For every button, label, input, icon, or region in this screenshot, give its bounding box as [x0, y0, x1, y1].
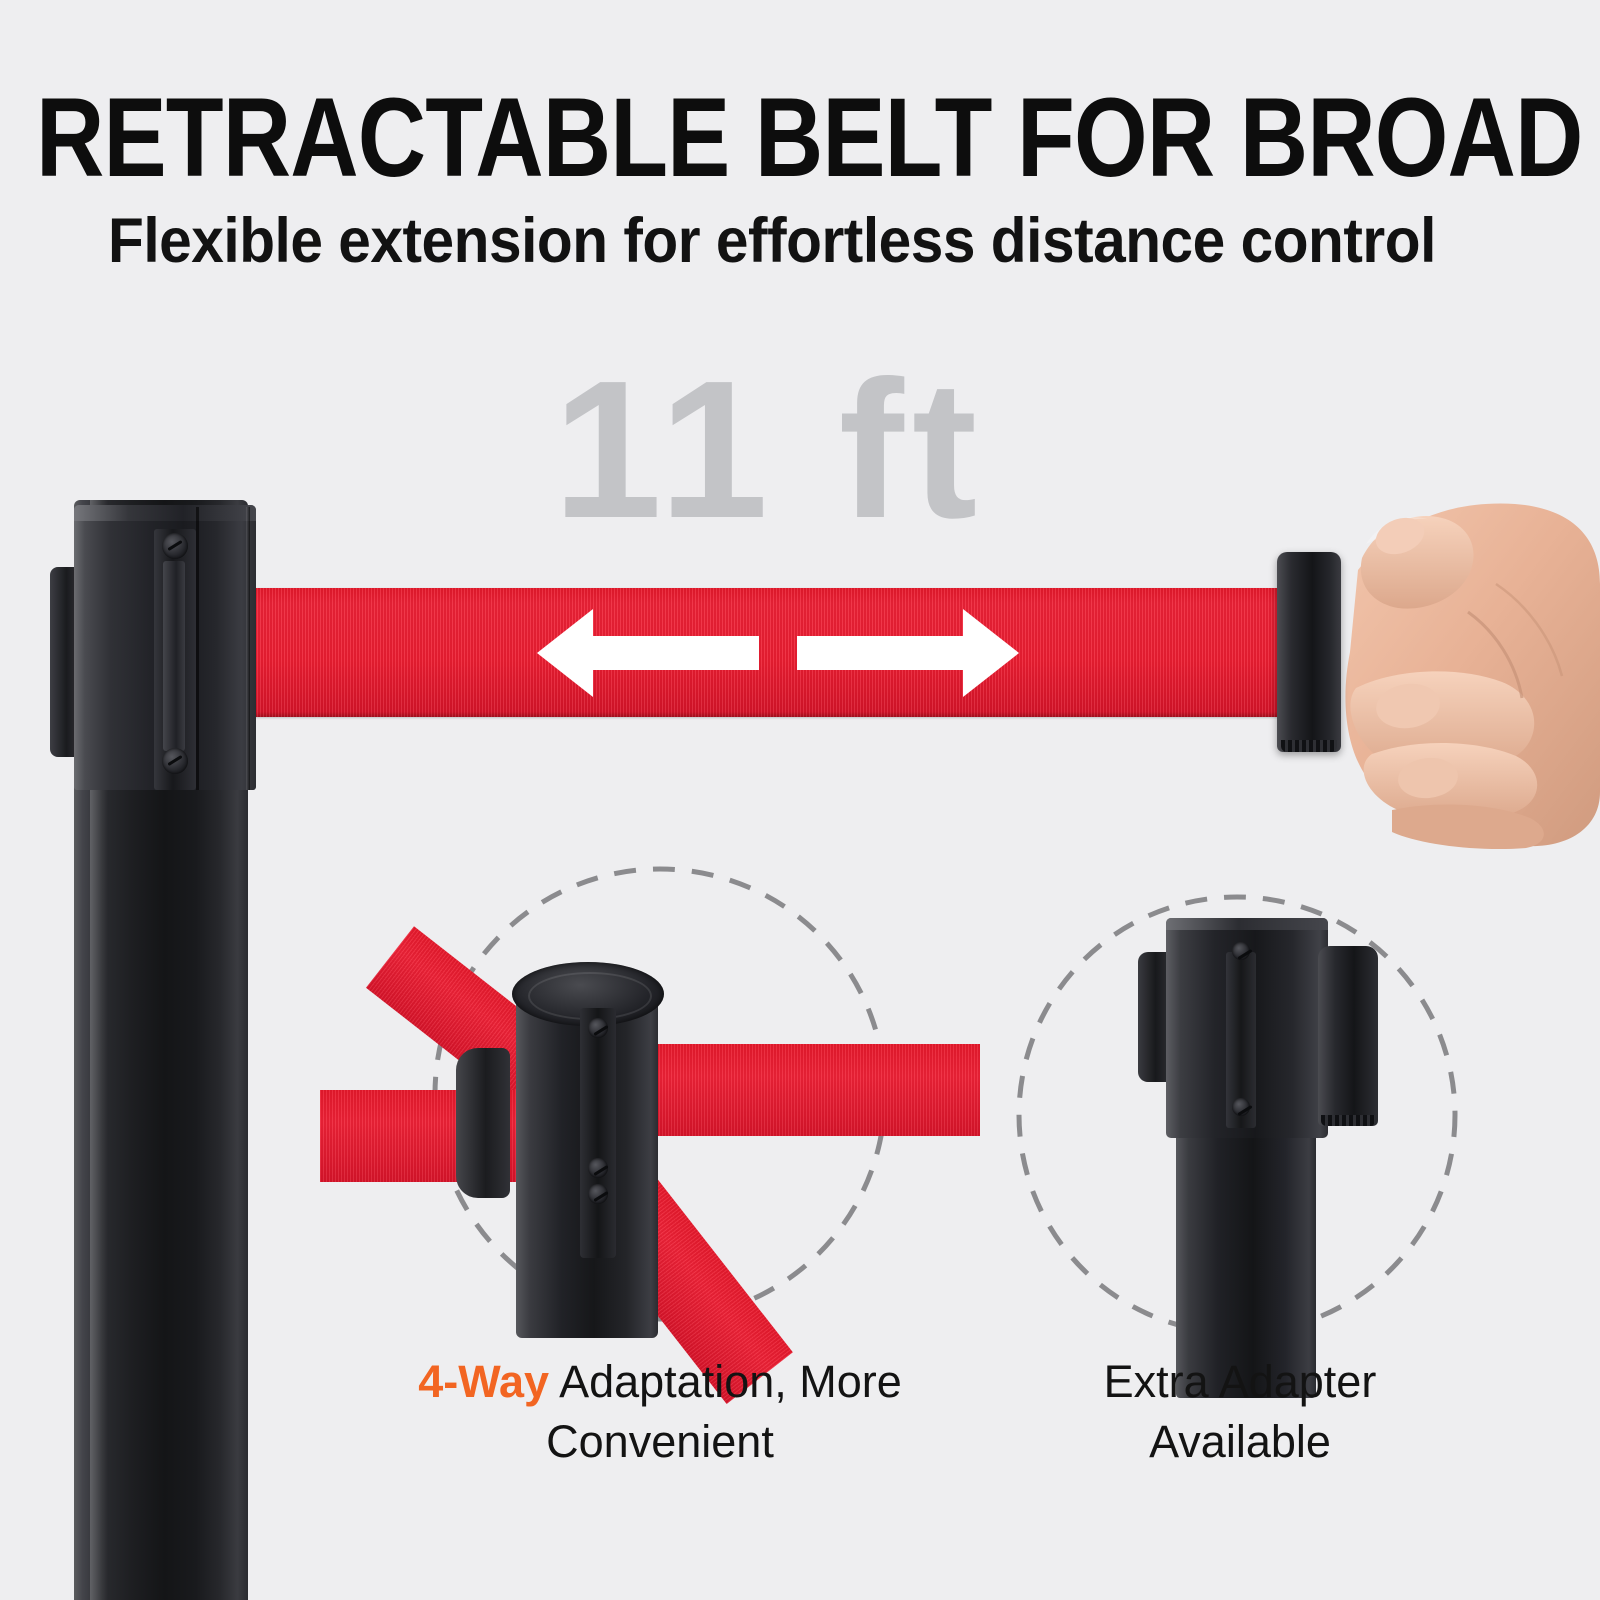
belt-end-clip: [1277, 552, 1341, 752]
screw-icon-top: [162, 533, 188, 559]
belt-exit-rail-inner: [163, 561, 185, 751]
screw-icon-1: [588, 1018, 608, 1038]
length-watermark: 11 ft: [553, 352, 985, 548]
screw-icon-3: [588, 1184, 608, 1204]
cassette-seam-left: [196, 507, 199, 790]
retractable-belt: [245, 588, 1310, 717]
cassette-seam-right: [246, 507, 250, 790]
callout-highlight-four-way: 4-Way: [418, 1356, 549, 1407]
extra-adapter-product-illustration: [1130, 918, 1390, 1398]
belt-exit-rail-detail: [580, 1008, 616, 1258]
callout-caption-rest: Adaptation, More Convenient: [546, 1356, 902, 1467]
cassette-top-lip-detail: [1166, 918, 1328, 930]
right-arrow-icon: [797, 609, 1019, 697]
callout-caption-four-way: 4-Way Adaptation, More Convenient: [300, 1352, 1020, 1472]
screw-icon-2: [1232, 1098, 1250, 1116]
four-way-product-illustration: [420, 858, 900, 1338]
left-arrow-icon: [537, 609, 759, 697]
hand-holding-belt: [1300, 492, 1600, 852]
extra-adapter-clip: [1318, 946, 1378, 1126]
screw-icon-bottom: [162, 748, 188, 774]
product-feature-banner: RETRACTABLE BELT FOR BROAD COVERAGE Flex…: [0, 0, 1600, 1600]
callout-caption-extra-adapter: Extra Adapter Available: [1020, 1352, 1460, 1472]
cassette-top-lip: [74, 505, 256, 521]
belt-cassette-head: [50, 505, 256, 790]
belt-segment-east: [650, 1044, 980, 1136]
side-adapter-clip-detail: [456, 1048, 510, 1198]
screw-icon-1: [1232, 942, 1250, 960]
screw-icon-2: [588, 1158, 608, 1178]
page-title: RETRACTABLE BELT FOR BROAD COVERAGE: [36, 82, 1337, 194]
page-subtitle: Flexible extension for effortless distan…: [108, 208, 1429, 274]
